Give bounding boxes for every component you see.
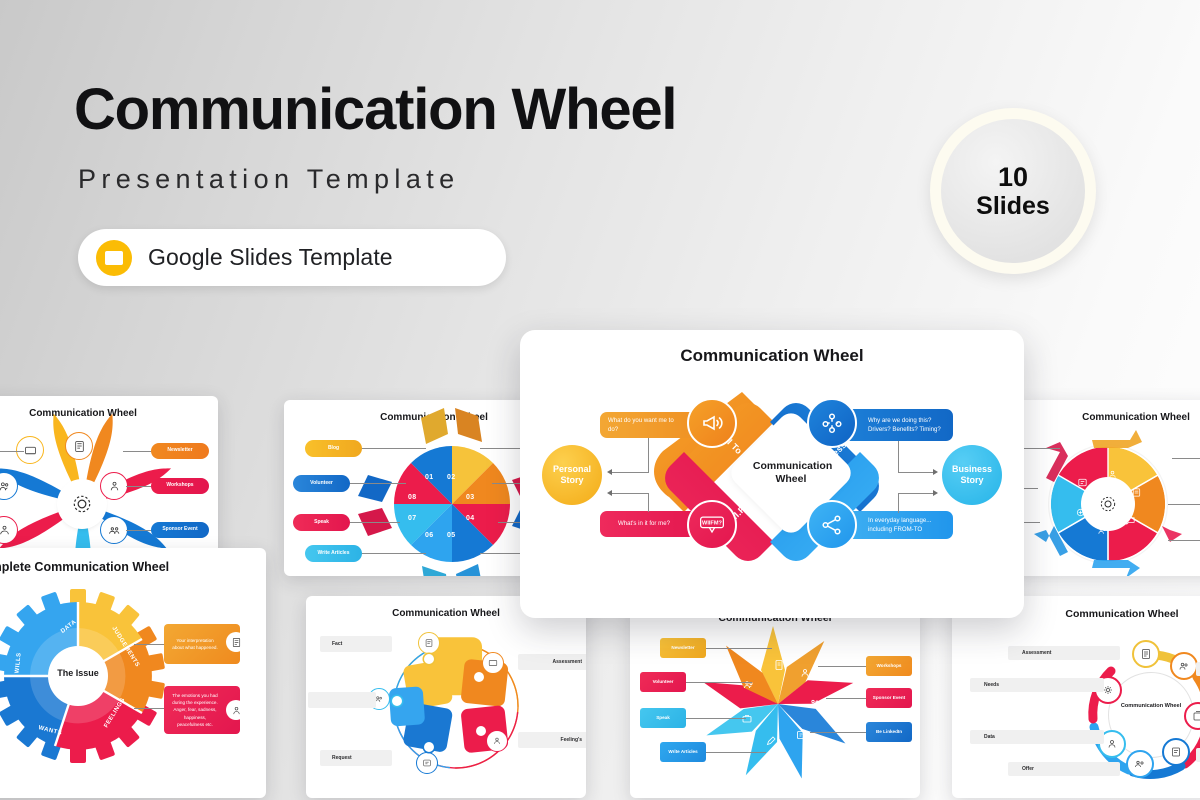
outcome-business-story[interactable]: Business Story: [942, 445, 1002, 505]
connector: [134, 708, 164, 709]
segment-icon-2: [1128, 484, 1144, 500]
node-dot-5: [392, 696, 402, 706]
google-slides-badge[interactable]: Google Slides Template: [78, 229, 506, 286]
connector: [348, 522, 400, 523]
connector: [898, 472, 934, 473]
slide-circular-arrow-wheel[interactable]: Communication Wheel: [1012, 400, 1200, 576]
connector: [898, 441, 899, 473]
wiifm-speech-bubble-icon: WIIFM?: [687, 500, 737, 550]
google-slides-icon: [96, 240, 132, 276]
page-title: Communication Wheel: [74, 76, 676, 143]
tag-right-1[interactable]: Workshops: [151, 478, 209, 494]
tip-icon-1: [16, 436, 44, 464]
node-orange-icon: [1170, 652, 1198, 680]
star-icon-3: [806, 694, 824, 712]
connector: [0, 451, 24, 452]
node-dot-1: [424, 654, 434, 664]
google-slides-badge-label: Google Slides Template: [148, 244, 393, 271]
arrowhead-icon: [933, 469, 938, 475]
slide-circle-nodes-wheel[interactable]: Communication Wheel Communication Wheel: [952, 596, 1200, 798]
connector: [898, 493, 899, 513]
row-left-2[interactable]: Request: [320, 750, 392, 766]
tag-left-3[interactable]: Write Articles: [305, 545, 362, 562]
slide-four-quadrant-wheel[interactable]: Communication Wheel: [306, 596, 586, 798]
node-icon-right-top: [482, 652, 504, 674]
connector: [1168, 540, 1200, 541]
segment-icon-6: [1074, 474, 1090, 490]
tag-right-1[interactable]: Sponsor Event: [866, 688, 912, 708]
arrowhead-icon: [607, 490, 612, 496]
segment-icon-4: [1094, 522, 1110, 538]
star-icon-4: [792, 726, 810, 744]
wheel-center-label: Communication Wheel: [753, 460, 829, 486]
connector: [686, 718, 746, 719]
number-03: 03: [466, 494, 474, 501]
network-people-icon: [807, 398, 857, 448]
star-icon-7: [740, 676, 758, 694]
page-subtitle: Presentation Template: [78, 164, 460, 195]
connector: [706, 648, 772, 649]
connector: [810, 732, 866, 733]
slide-canvas: [1012, 400, 1200, 576]
note-icon-document: [226, 632, 246, 652]
note-icon-emotion: [226, 700, 246, 720]
slide-star-wheel[interactable]: Communication Wheel: [630, 600, 920, 798]
connector: [612, 493, 649, 494]
node-icon-right-bottom: [486, 730, 508, 752]
connector: [648, 493, 649, 512]
row-left-3[interactable]: Offer: [1008, 762, 1120, 776]
connector: [818, 666, 866, 667]
row-left-1[interactable]: [308, 692, 376, 708]
row-left-1[interactable]: Needs: [970, 678, 1104, 692]
row-left-0[interactable]: Assessment: [1008, 646, 1120, 660]
connector: [360, 553, 426, 554]
connector: [706, 752, 766, 753]
row-right-2[interactable]: [1196, 748, 1200, 762]
tip-icon-2: [65, 432, 93, 460]
segment-icon-1: [1104, 466, 1120, 482]
connector: [826, 698, 866, 699]
featured-slide-communication-wheel[interactable]: Communication Wheel: [520, 330, 1024, 618]
row-right-0[interactable]: [1196, 662, 1200, 676]
segment-icon-3: [1122, 512, 1138, 528]
node-blue-bottom-icon: [1162, 738, 1190, 766]
star-icon-5: [762, 732, 780, 750]
tag-left-1[interactable]: Volunteer: [293, 475, 350, 492]
number-08: 08: [408, 494, 416, 501]
connector: [134, 644, 164, 645]
slide-canvas: The Issue DATA JUDGEMENTS FEELINGS WANTS…: [0, 548, 266, 798]
gear-center-label: The Issue: [48, 668, 108, 678]
tag-left-3[interactable]: Write Articles: [660, 742, 706, 762]
connector: [360, 448, 426, 449]
number-04: 04: [466, 515, 474, 522]
slides-count-value: 10: [998, 162, 1028, 192]
node-icon-top: [418, 632, 440, 654]
tip-icon-6: [100, 516, 128, 544]
tip-icon-4: [100, 472, 128, 500]
connector: [123, 451, 153, 452]
slide-canvas: Fact Request Assessment Feeling's: [306, 596, 586, 798]
slides-count-word: Slides: [976, 192, 1050, 220]
center-gear-icon: [60, 482, 104, 526]
tag-right-0[interactable]: Newsletter: [151, 443, 209, 459]
tag-left-2[interactable]: Speak: [640, 708, 686, 728]
node-dot-4: [424, 742, 434, 752]
tag-left-1[interactable]: Volunteer: [640, 672, 686, 692]
node-assessment-icon: [1132, 640, 1160, 668]
slide-canvas: Communication Wheel Call To Action Busin…: [520, 330, 1024, 618]
connector: [348, 483, 406, 484]
outcome-personal-story[interactable]: Personal Story: [542, 445, 602, 505]
star-icon-2: [796, 664, 814, 682]
row-right-1[interactable]: Feeling's: [518, 732, 586, 748]
connector: [898, 493, 934, 494]
connector: [1168, 504, 1200, 505]
row-right-0[interactable]: Assessment: [518, 654, 586, 670]
connector: [126, 486, 154, 487]
star-icon-6: [738, 710, 756, 728]
number-06: 06: [425, 532, 433, 539]
tag-right-2[interactable]: Sponsor Event: [151, 522, 209, 538]
connector: [648, 438, 649, 473]
slides-count-badge-inner: 10 Slides: [941, 119, 1085, 263]
number-02: 02: [447, 474, 455, 481]
tag-right-2[interactable]: Be LinkedIn: [866, 722, 912, 742]
connector: [686, 682, 752, 683]
row-left-0[interactable]: Fact: [320, 636, 392, 652]
tag-left-2[interactable]: Speak: [293, 514, 350, 531]
slide-canvas: Newsletter Volunteer Speak Write Article…: [630, 600, 920, 798]
node-dot-2: [474, 672, 484, 682]
svg-text:WIIFM?: WIIFM?: [702, 521, 722, 527]
star-icon-1: [770, 656, 788, 674]
node-icon-bottom: [416, 752, 438, 774]
connector: [1172, 458, 1200, 459]
share-nodes-icon: [807, 500, 857, 550]
number-07: 07: [408, 515, 416, 522]
slide-complete-gear-wheel[interactable]: Complete Communication Wheel: [0, 548, 266, 798]
slide-canvas: Communication Wheel: [952, 596, 1200, 798]
tag-left-0[interactable]: Newsletter: [660, 638, 706, 658]
slides-count-badge: 10 Slides: [930, 108, 1096, 274]
center-gear-icon: [1090, 486, 1126, 522]
megaphone-icon: [687, 398, 737, 448]
node-dot-3: [476, 726, 486, 736]
tag-right-0[interactable]: Workshops: [866, 656, 912, 676]
node-offer-icon: [1126, 750, 1154, 778]
segment-icon-5: [1072, 504, 1088, 520]
arrowhead-icon: [607, 469, 612, 475]
row-left-2[interactable]: Data: [970, 730, 1104, 744]
number-01: 01: [425, 474, 433, 481]
number-05: 05: [447, 532, 455, 539]
connector: [126, 530, 154, 531]
arrowhead-icon: [933, 490, 938, 496]
connector: [612, 472, 649, 473]
tag-left-0[interactable]: Blog: [305, 440, 362, 457]
